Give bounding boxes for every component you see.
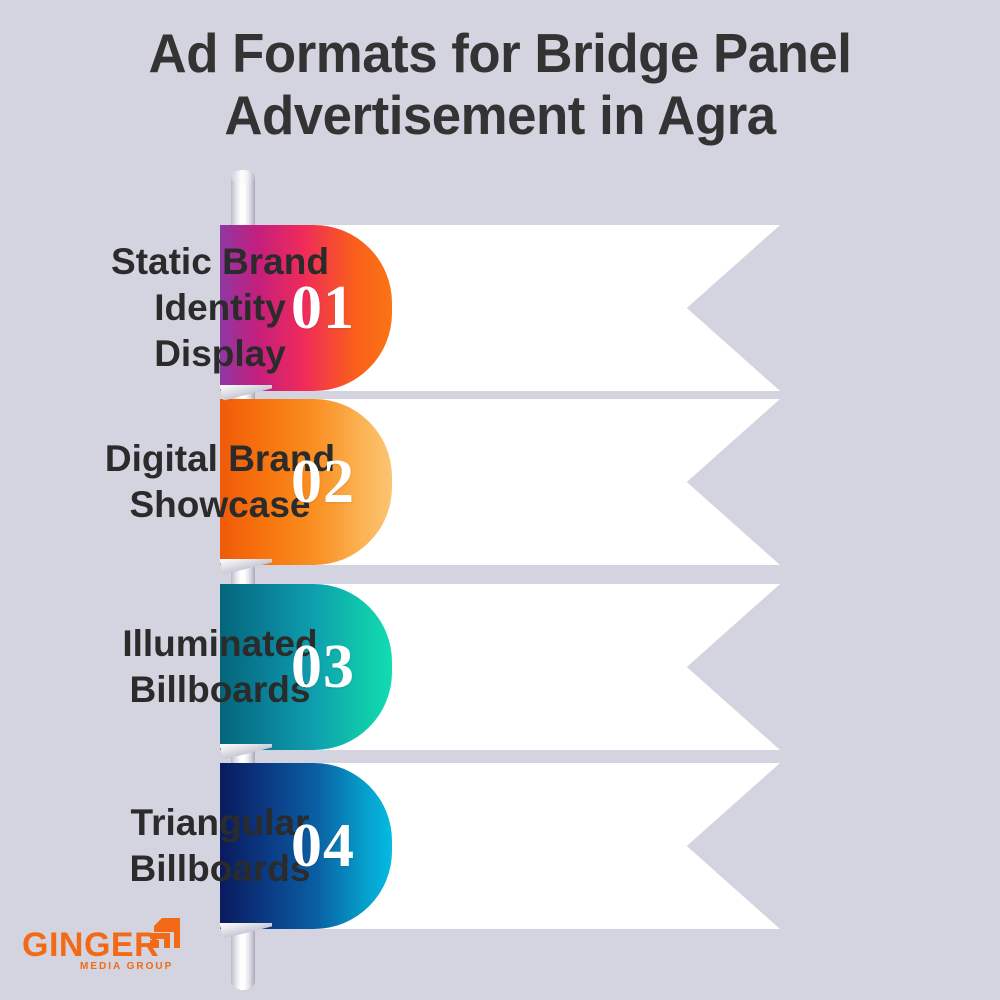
list-item[interactable]: 01 Static Brand Identity Display bbox=[0, 225, 1000, 391]
item-number-01: 01 bbox=[220, 225, 392, 391]
item-number-03: 03 bbox=[220, 584, 392, 750]
title-line-2: Advertisement in Agra bbox=[20, 84, 980, 146]
list-item[interactable]: 04 Triangular Billboards bbox=[0, 763, 1000, 929]
item-number-02: 02 bbox=[220, 399, 392, 565]
flag-pole-cap bbox=[231, 170, 255, 184]
page-title: Ad Formats for Bridge Panel Advertisemen… bbox=[0, 22, 1000, 146]
item-number-04: 04 bbox=[220, 763, 392, 929]
list-item[interactable]: 02 Digital Brand Showcase bbox=[0, 399, 1000, 565]
logo-wordmark: GINGER bbox=[22, 926, 159, 965]
logo-tagline: MEDIA GROUP bbox=[80, 961, 173, 972]
list-item[interactable]: 03 Illuminated Billboards bbox=[0, 584, 1000, 750]
title-line-1: Ad Formats for Bridge Panel bbox=[20, 22, 980, 84]
